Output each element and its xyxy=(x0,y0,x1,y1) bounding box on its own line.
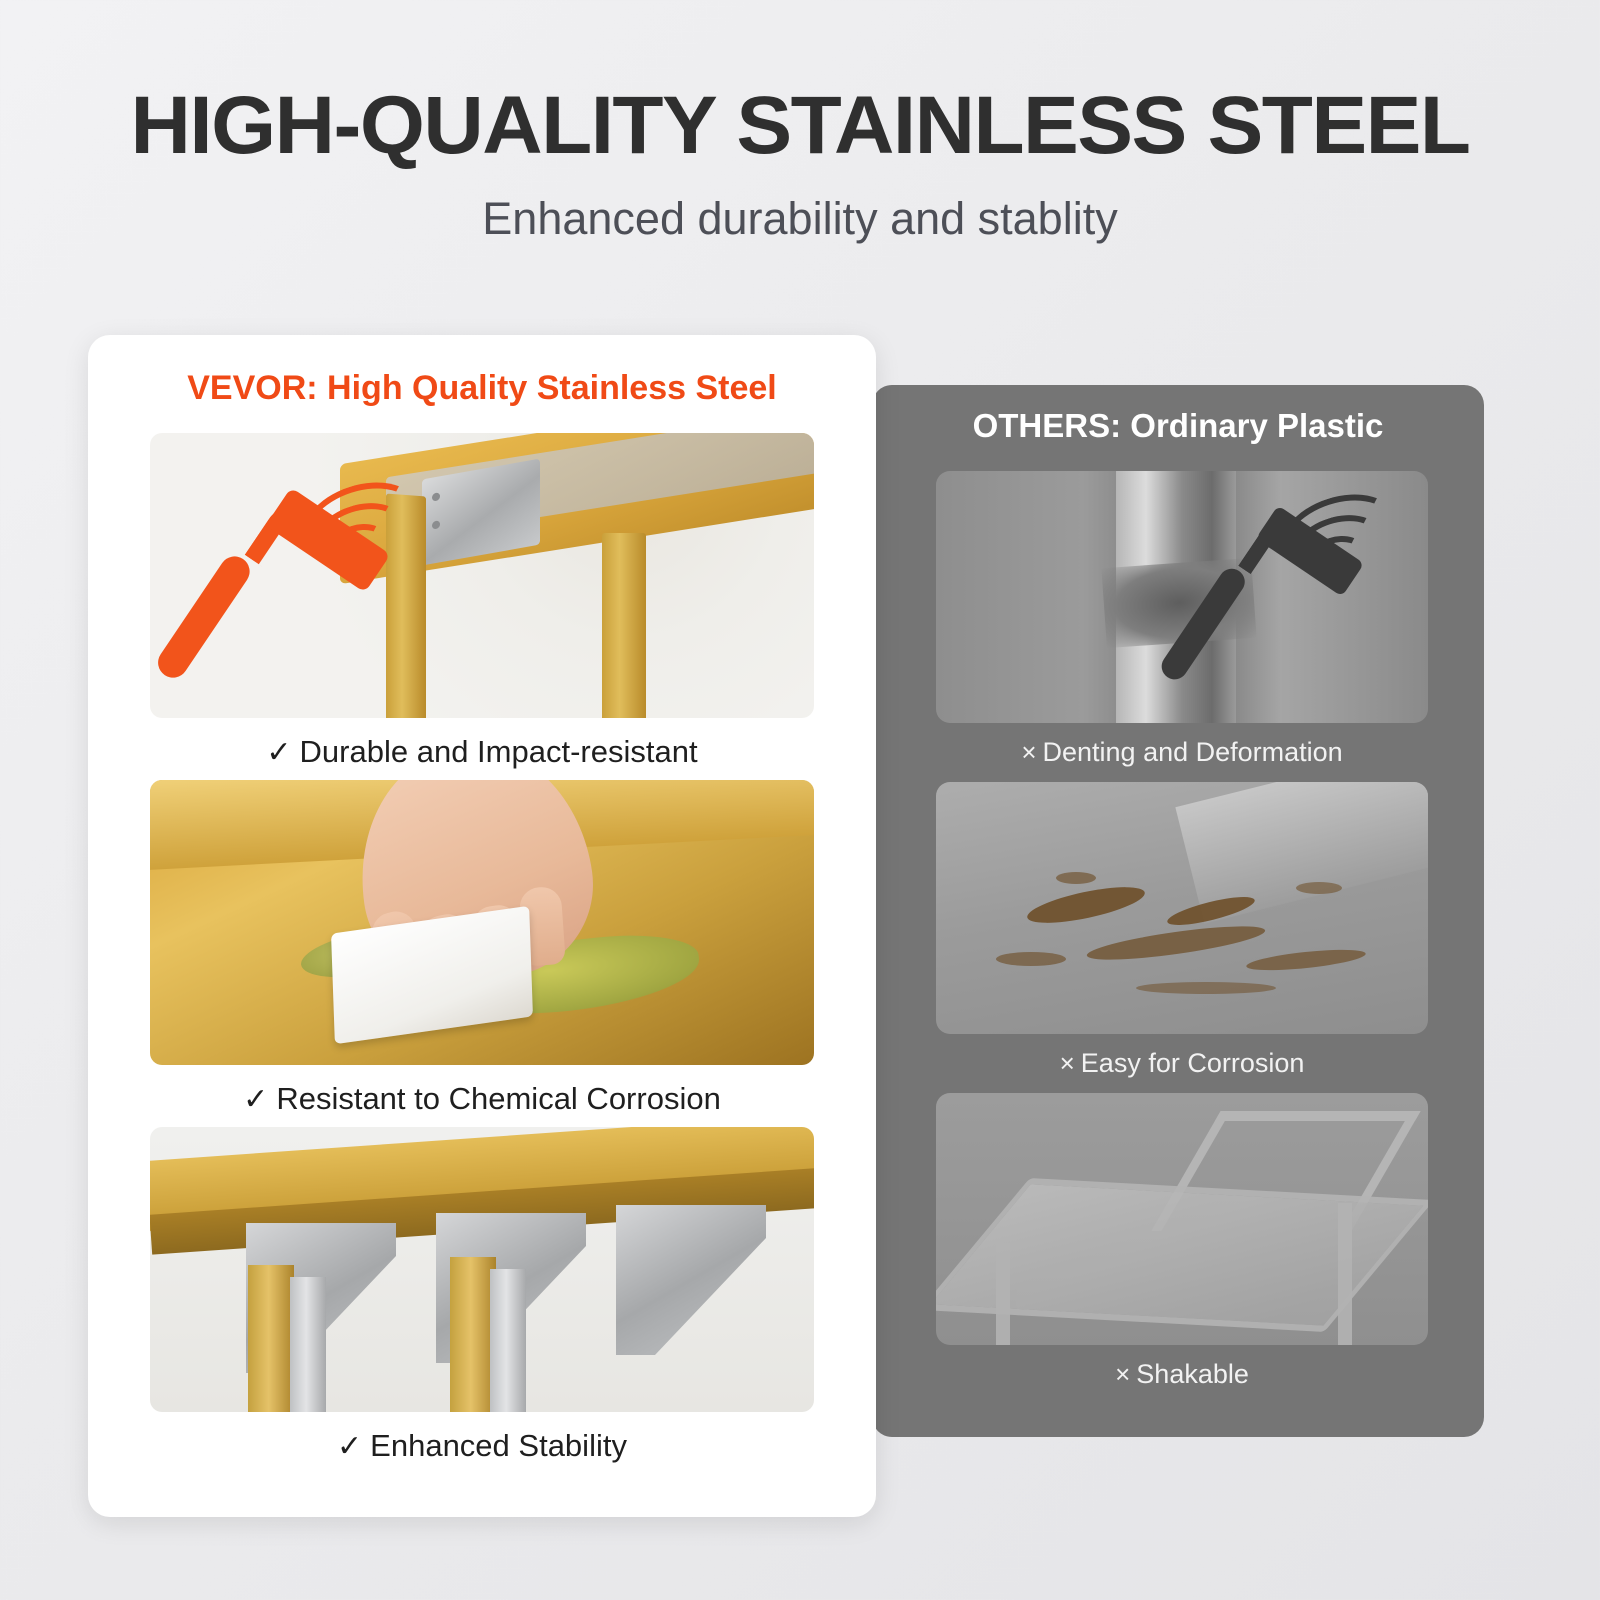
vevor-item-label: Durable and Impact-resistant xyxy=(300,734,698,769)
list-item: ×Shakable xyxy=(936,1093,1428,1390)
dented-metal-bar-with-hammer-photo xyxy=(936,471,1428,723)
folding-bracket-underside-photo xyxy=(150,1127,814,1412)
vevor-item-caption: ✓Durable and Impact-resistant xyxy=(150,718,814,770)
vevor-comparison-panel: VEVOR: High Quality Stainless Steel ✓Dur… xyxy=(88,335,876,1517)
check-icon: ✓ xyxy=(266,736,299,769)
others-item-caption: ×Denting and Deformation xyxy=(936,723,1428,768)
vevor-items-list: ✓Durable and Impact-resistant ✓Resistant… xyxy=(150,433,814,1474)
others-item-caption: ×Shakable xyxy=(936,1345,1428,1390)
hammer-icon xyxy=(1204,499,1404,689)
list-item: ✓Resistant to Chemical Corrosion xyxy=(150,780,814,1117)
check-icon: ✓ xyxy=(337,1430,370,1463)
list-item: ×Denting and Deformation xyxy=(936,471,1428,768)
list-item: ×Easy for Corrosion xyxy=(936,782,1428,1079)
hammer-icon xyxy=(210,481,440,691)
hammer-striking-steel-table-photo xyxy=(150,433,814,718)
wobbly-plastic-table-photo xyxy=(936,1093,1428,1345)
vevor-item-label: Resistant to Chemical Corrosion xyxy=(276,1081,721,1116)
others-comparison-panel: OTHERS: Ordinary Plastic ×Denting and De… xyxy=(872,385,1484,1437)
list-item: ✓Durable and Impact-resistant xyxy=(150,433,814,770)
others-item-label: Denting and Deformation xyxy=(1043,737,1343,767)
vevor-item-caption: ✓Enhanced Stability xyxy=(150,1412,814,1464)
others-items-list: ×Denting and Deformation ×Easy for Corro… xyxy=(936,471,1428,1404)
rust-stained-surface-photo xyxy=(936,782,1428,1034)
others-item-label: Shakable xyxy=(1136,1359,1249,1389)
vevor-item-caption: ✓Resistant to Chemical Corrosion xyxy=(150,1065,814,1117)
cross-icon: × xyxy=(1060,1048,1081,1078)
cross-icon: × xyxy=(1115,1359,1136,1389)
others-item-label: Easy for Corrosion xyxy=(1081,1048,1305,1078)
page-subtitle: Enhanced durability and stablity xyxy=(0,174,1600,246)
vevor-item-label: Enhanced Stability xyxy=(370,1428,627,1463)
cross-icon: × xyxy=(1021,737,1042,767)
check-icon: ✓ xyxy=(243,1083,276,1116)
list-item: ✓Enhanced Stability xyxy=(150,1127,814,1464)
page-title: HIGH-QUALITY STAINLESS STEEL xyxy=(0,0,1600,174)
vevor-panel-heading: VEVOR: High Quality Stainless Steel xyxy=(88,369,876,408)
others-panel-heading: OTHERS: Ordinary Plastic xyxy=(872,407,1484,445)
hand-wiping-spill-with-sponge-photo xyxy=(150,780,814,1065)
page-header: HIGH-QUALITY STAINLESS STEEL Enhanced du… xyxy=(0,0,1600,246)
others-item-caption: ×Easy for Corrosion xyxy=(936,1034,1428,1079)
